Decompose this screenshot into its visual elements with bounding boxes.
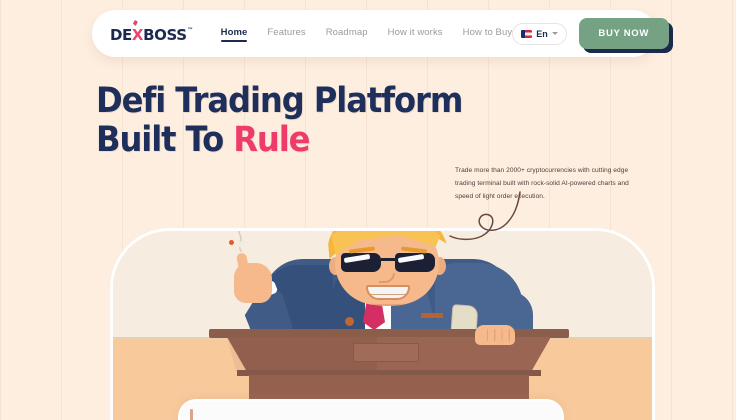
podium-top [209, 329, 569, 338]
header-actions: En BUY NOW [512, 18, 669, 49]
mouth [366, 285, 410, 300]
nav-item-home[interactable]: Home [221, 27, 248, 41]
flag-icon [521, 30, 532, 38]
headline-line-1: Defi Trading Platform [96, 81, 462, 121]
pocket-square [421, 313, 443, 318]
site-header: DEXBOSS ™ Home Features Roadmap How it w… [92, 10, 656, 57]
hero-description: Trade more than 2000+ cryptocurrencies w… [455, 165, 640, 204]
cigarette-ember [229, 240, 234, 245]
trademark-icon: ™ [188, 27, 193, 33]
brand-logo[interactable]: DEXBOSS ™ [110, 26, 193, 41]
nav-item-how-to-buy[interactable]: How to Buy [463, 27, 513, 41]
bottom-panel-card[interactable] [178, 399, 564, 420]
hero-illustration-panel [110, 228, 655, 420]
sunglasses-lens-left [341, 253, 381, 272]
lapel-pin-icon [345, 317, 354, 326]
brand-logo-suffix: BOSS [143, 26, 187, 44]
sunglasses-bridge [381, 258, 395, 261]
brand-logo-text: DEXBOSS [110, 28, 187, 43]
businessman-illustration [113, 231, 655, 420]
nav-item-how-it-works[interactable]: How it works [388, 27, 443, 41]
nav-item-roadmap[interactable]: Roadmap [326, 27, 368, 41]
brand-logo-prefix: DE [110, 26, 132, 44]
headline-line-2-prefix: Built To [96, 120, 233, 160]
headline-line-2-accent: Rule [233, 120, 309, 160]
language-label: En [536, 29, 548, 39]
buy-now-button[interactable]: BUY NOW [579, 18, 669, 49]
bottom-panel-notch [190, 409, 193, 420]
sunglasses-lens-right [395, 253, 435, 272]
page-title: Defi Trading Platform Built To Rule [96, 82, 462, 160]
buy-now-wrapper: BUY NOW [579, 18, 669, 49]
nav-item-features[interactable]: Features [267, 27, 305, 41]
sunglasses-icon [341, 253, 435, 272]
language-selector[interactable]: En [512, 23, 567, 45]
chevron-down-icon [552, 32, 558, 35]
right-hand-fingers [481, 329, 511, 341]
chin [371, 301, 405, 306]
brand-logo-x: X [132, 26, 143, 44]
podium-plaque [353, 343, 419, 362]
primary-navigation: Home Features Roadmap How it works How t… [221, 27, 513, 41]
